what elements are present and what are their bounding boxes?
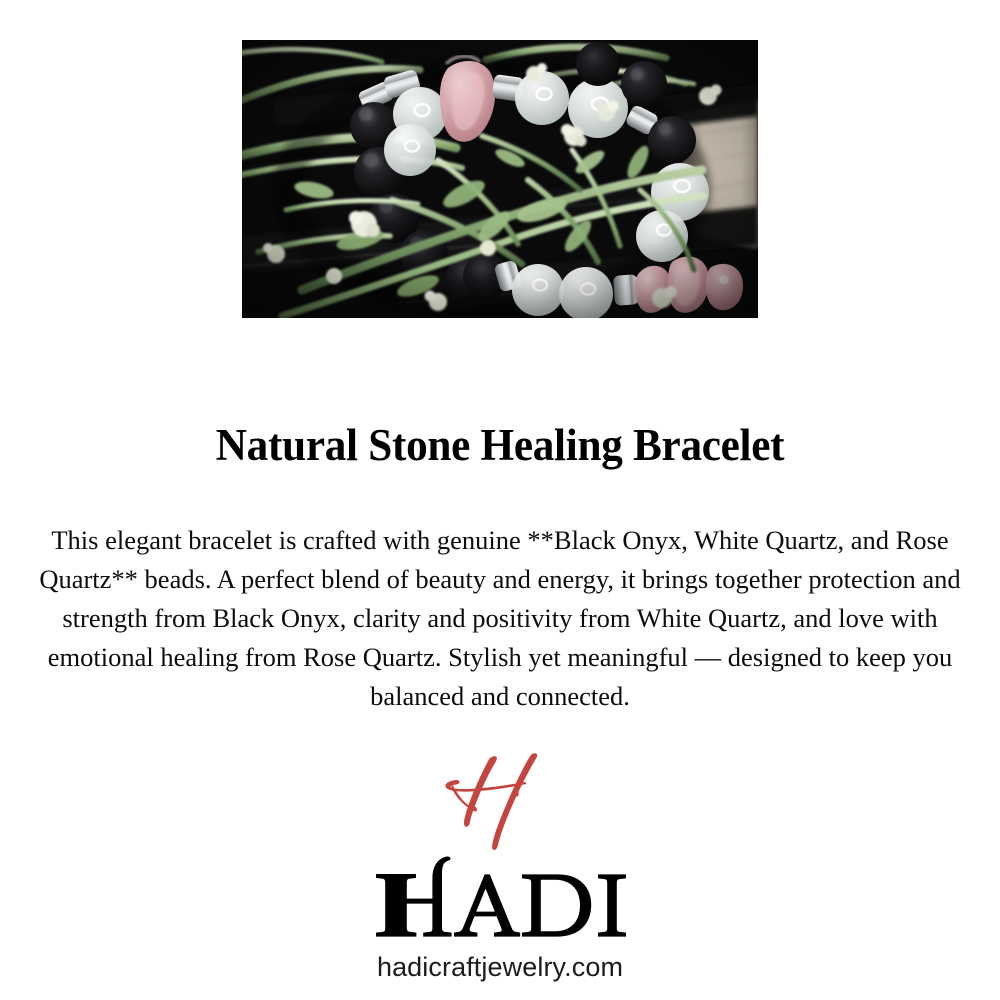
brand-logo: [0, 752, 1000, 938]
product-listing-page: Natural Stone Healing Bracelet This eleg…: [0, 0, 1000, 1000]
monogram-h-icon: [425, 752, 575, 858]
product-description: This elegant bracelet is crafted with ge…: [24, 521, 976, 716]
page-title: Natural Stone Healing Bracelet: [20, 418, 980, 472]
product-photo: [242, 40, 758, 318]
website-url[interactable]: hadicraftjewelry.com: [0, 950, 1000, 984]
brand-wordmark: [370, 854, 630, 938]
